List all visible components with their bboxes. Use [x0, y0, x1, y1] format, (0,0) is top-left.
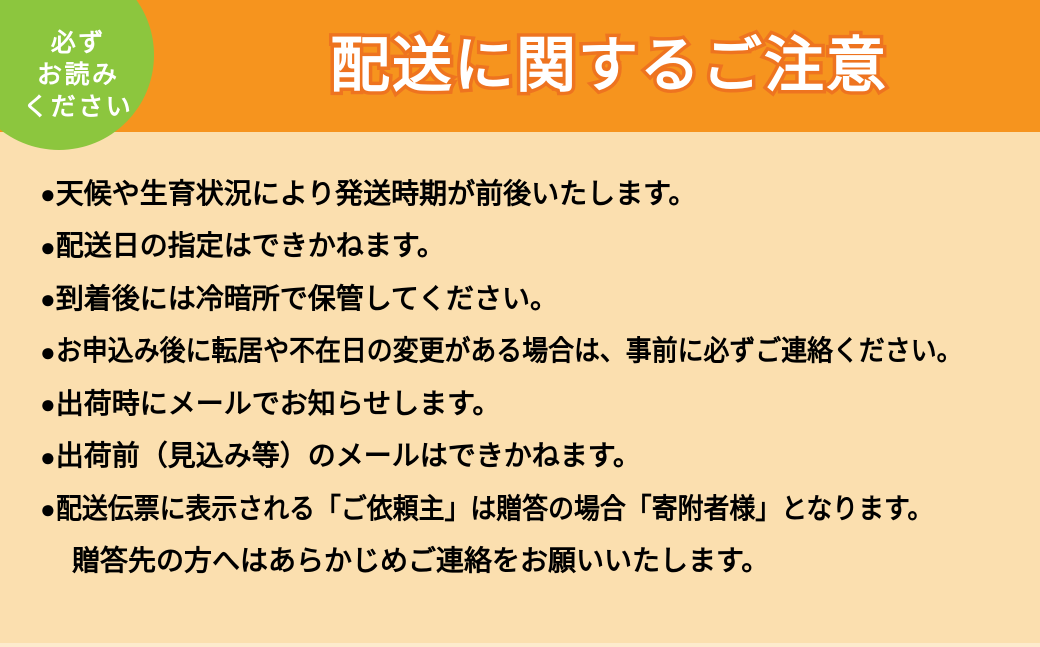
- must-read-badge: 必ず お読み ください: [0, 0, 154, 150]
- notice-item-text: 出荷前（見込み等）のメールはできかねます。: [56, 441, 641, 472]
- bullet-icon: ●: [40, 444, 56, 470]
- notice-item-text: 天候や生育状況により発送時期が前後いたします。: [56, 179, 697, 210]
- notice-item-text: 出荷時にメールでお知らせします。: [56, 389, 501, 420]
- notice-item: ● 出荷時にメールでお知らせします。: [40, 378, 1015, 431]
- shipping-notice-poster: 配送に関するご注意 必ず お読み ください ● 天候や生育状況により発送時期が前…: [0, 0, 1040, 647]
- notice-item-text: お申込み後に転居や不在日の変更がある場合は、事前に必ずご連絡ください。: [56, 336, 963, 367]
- bullet-icon: ●: [40, 286, 56, 312]
- bullet-icon: ●: [40, 234, 56, 260]
- notice-item: ● お申込み後に転居や不在日の変更がある場合は、事前に必ずご連絡ください。: [40, 326, 1015, 379]
- notice-item-text: 配送日の指定はできかねます。: [56, 231, 445, 262]
- notice-item-text: 贈答先の方へはあらかじめご連絡をお願いいたします。: [72, 546, 769, 577]
- badge-line-2: お読み: [34, 62, 119, 89]
- notice-item: ● 出荷前（見込み等）のメールはできかねます。: [40, 431, 1015, 484]
- notice-item-continuation: 贈答先の方へはあらかじめご連絡をお願いいたします。: [40, 536, 1015, 589]
- bottom-strip: [0, 643, 1040, 647]
- badge-line-3: ください: [21, 94, 134, 121]
- bullet-icon: ●: [40, 181, 56, 207]
- notice-list: ● 天候や生育状況により発送時期が前後いたします。 ● 配送日の指定はできかねま…: [40, 168, 1015, 588]
- notice-item-text: 配送伝票に表示される「ご依頼主」は贈答の場合「寄附者様」となります。: [56, 494, 933, 525]
- notice-item-text: 到着後には冷暗所で保管してください。: [56, 284, 558, 315]
- header-band: [0, 0, 1040, 132]
- bullet-icon: ●: [40, 339, 56, 365]
- notice-item: ● 配送伝票に表示される「ご依頼主」は贈答の場合「寄附者様」となります。: [40, 483, 1015, 536]
- notice-item: ● 到着後には冷暗所で保管してください。: [40, 273, 1015, 326]
- badge-line-1: 必ず: [48, 30, 106, 57]
- notice-item: ● 配送日の指定はできかねます。: [40, 221, 1015, 274]
- bullet-icon: ●: [40, 496, 56, 522]
- bullet-icon: ●: [40, 391, 56, 417]
- notice-item: ● 天候や生育状況により発送時期が前後いたします。: [40, 168, 1015, 221]
- must-read-badge-text: 必ず お読み ください: [0, 0, 154, 150]
